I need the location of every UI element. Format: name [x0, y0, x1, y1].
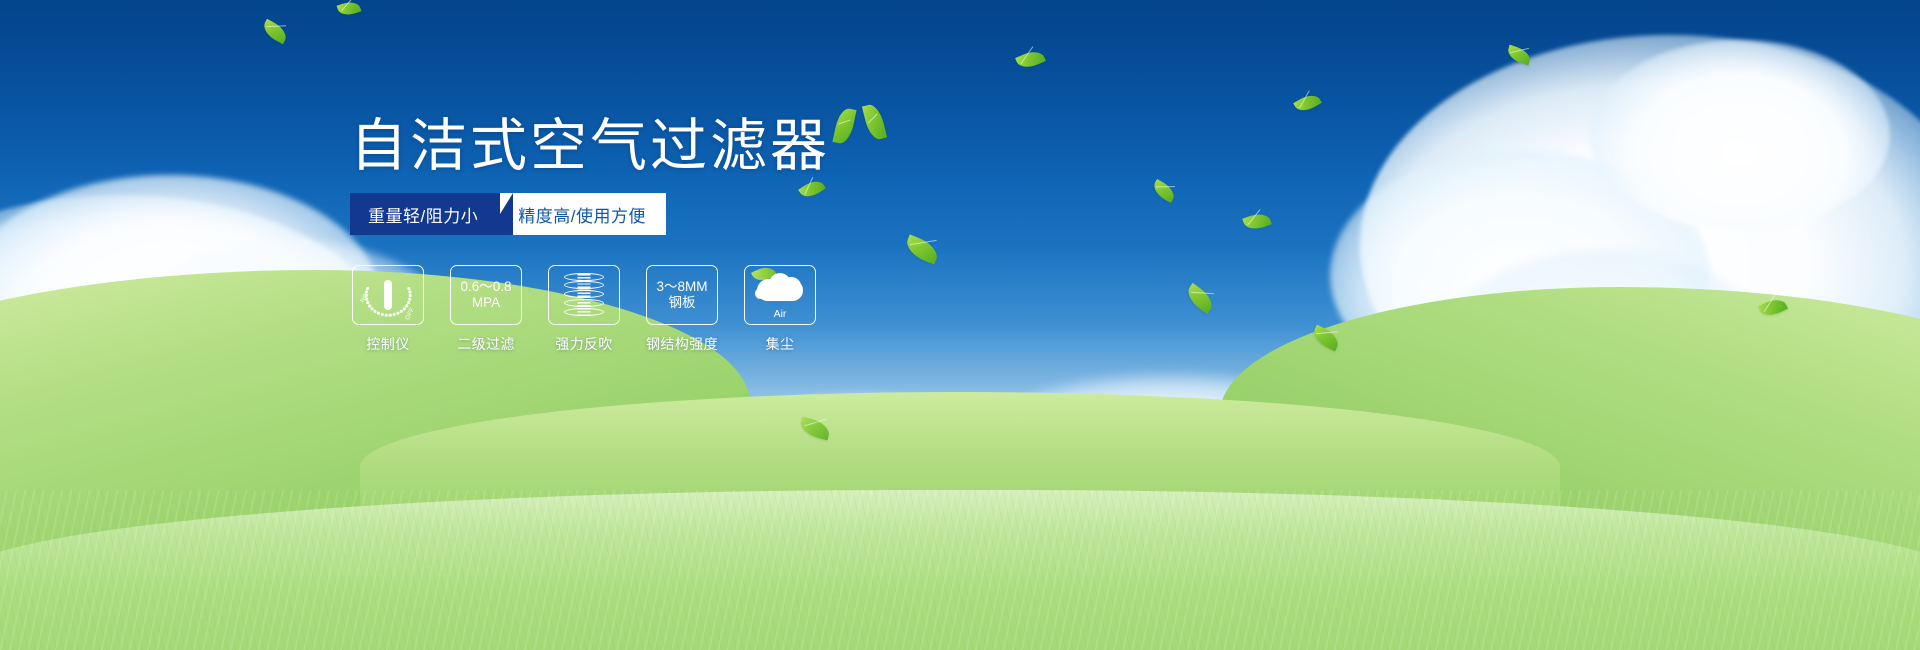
- dial-tick-dot: [389, 314, 392, 317]
- air-cloud-bump-2: [781, 277, 801, 295]
- dial-tick-dot: [405, 304, 408, 307]
- feature-cartridge-box: [548, 265, 620, 325]
- feature-dust-collection-label: 集尘: [744, 334, 816, 354]
- dial-tick-dot: [365, 290, 368, 293]
- steel-material-value: 钢板: [669, 295, 696, 311]
- feature-strong-backflush[interactable]: 强力反吹: [548, 265, 620, 354]
- feature-tab-bar: 重量轻/阻力小 精度高/使用方便: [350, 193, 666, 235]
- dial-tick-dot: [393, 313, 396, 316]
- dial-tick-dot: [365, 294, 368, 297]
- foreground-field: [0, 490, 1920, 650]
- page-title: 自洁式空气过滤器: [350, 118, 830, 175]
- feature-dust-collection[interactable]: Air 集尘: [744, 265, 816, 354]
- feature-controller-box: NO OFF: [352, 265, 424, 325]
- dial-tick-dot: [374, 310, 377, 313]
- pressure-range-value: 0.6～0.8: [460, 279, 511, 295]
- dial-knob: [384, 280, 392, 310]
- feature-steel-strength-label: 钢结构强度: [646, 334, 718, 354]
- feature-pressure-box: 0.6～0.8 MPA: [450, 265, 522, 325]
- feature-steel-strength[interactable]: 3～8MM 钢板 钢结构强度: [646, 265, 718, 354]
- feature-icon-row: NO OFF 控制仪 0.6～0.8 MPA 二级过滤: [352, 265, 816, 354]
- grass-ground: [0, 435, 1920, 650]
- dial-max-label: OFF: [405, 307, 416, 321]
- tab-high-precision-easy-use[interactable]: 精度高/使用方便: [490, 193, 666, 235]
- pressure-unit-value: MPA: [472, 295, 500, 311]
- dial-tick-dot: [407, 287, 410, 290]
- dial-tick-dot: [396, 312, 399, 315]
- dial-tick-dot: [366, 301, 369, 304]
- dial-tick-dot: [366, 287, 369, 290]
- dial-tick-dot: [403, 307, 406, 310]
- feature-steel-box: 3～8MM 钢板: [646, 265, 718, 325]
- dial-tick-dot: [400, 310, 403, 313]
- feature-air-box: Air: [744, 265, 816, 325]
- product-hero-banner: 自洁式空气过滤器 重量轻/阻力小 精度高/使用方便 NO OFF 控制仪: [0, 0, 1920, 650]
- dial-tick-dot: [377, 312, 380, 315]
- tab-lightweight-low-resistance[interactable]: 重量轻/阻力小: [350, 193, 500, 235]
- feature-controller-label: 控制仪: [352, 334, 424, 354]
- dial-tick-dot: [408, 298, 411, 301]
- feature-strong-backflush-label: 强力反吹: [548, 334, 620, 354]
- air-label: Air: [751, 308, 809, 320]
- dial-tick-dot: [407, 301, 410, 304]
- dial-tick-dot: [385, 314, 388, 317]
- grass-texture-shadows: [0, 490, 1920, 650]
- dial-tick-dot: [381, 313, 384, 316]
- feature-two-stage-filter[interactable]: 0.6～0.8 MPA 二级过滤: [450, 265, 522, 354]
- dial-tick-dot: [409, 294, 412, 297]
- dial-tick-dot: [408, 290, 411, 293]
- dial-tick-dot: [365, 298, 368, 301]
- sky-vignette: [0, 0, 1920, 180]
- air-cloud-icon: Air: [751, 271, 809, 319]
- steel-thickness-value: 3～8MM: [656, 279, 707, 295]
- control-dial-icon: NO OFF: [360, 271, 416, 319]
- filter-cartridge-icon: [562, 272, 606, 318]
- feature-two-stage-filter-label: 二级过滤: [450, 334, 522, 354]
- feature-controller[interactable]: NO OFF 控制仪: [352, 265, 424, 354]
